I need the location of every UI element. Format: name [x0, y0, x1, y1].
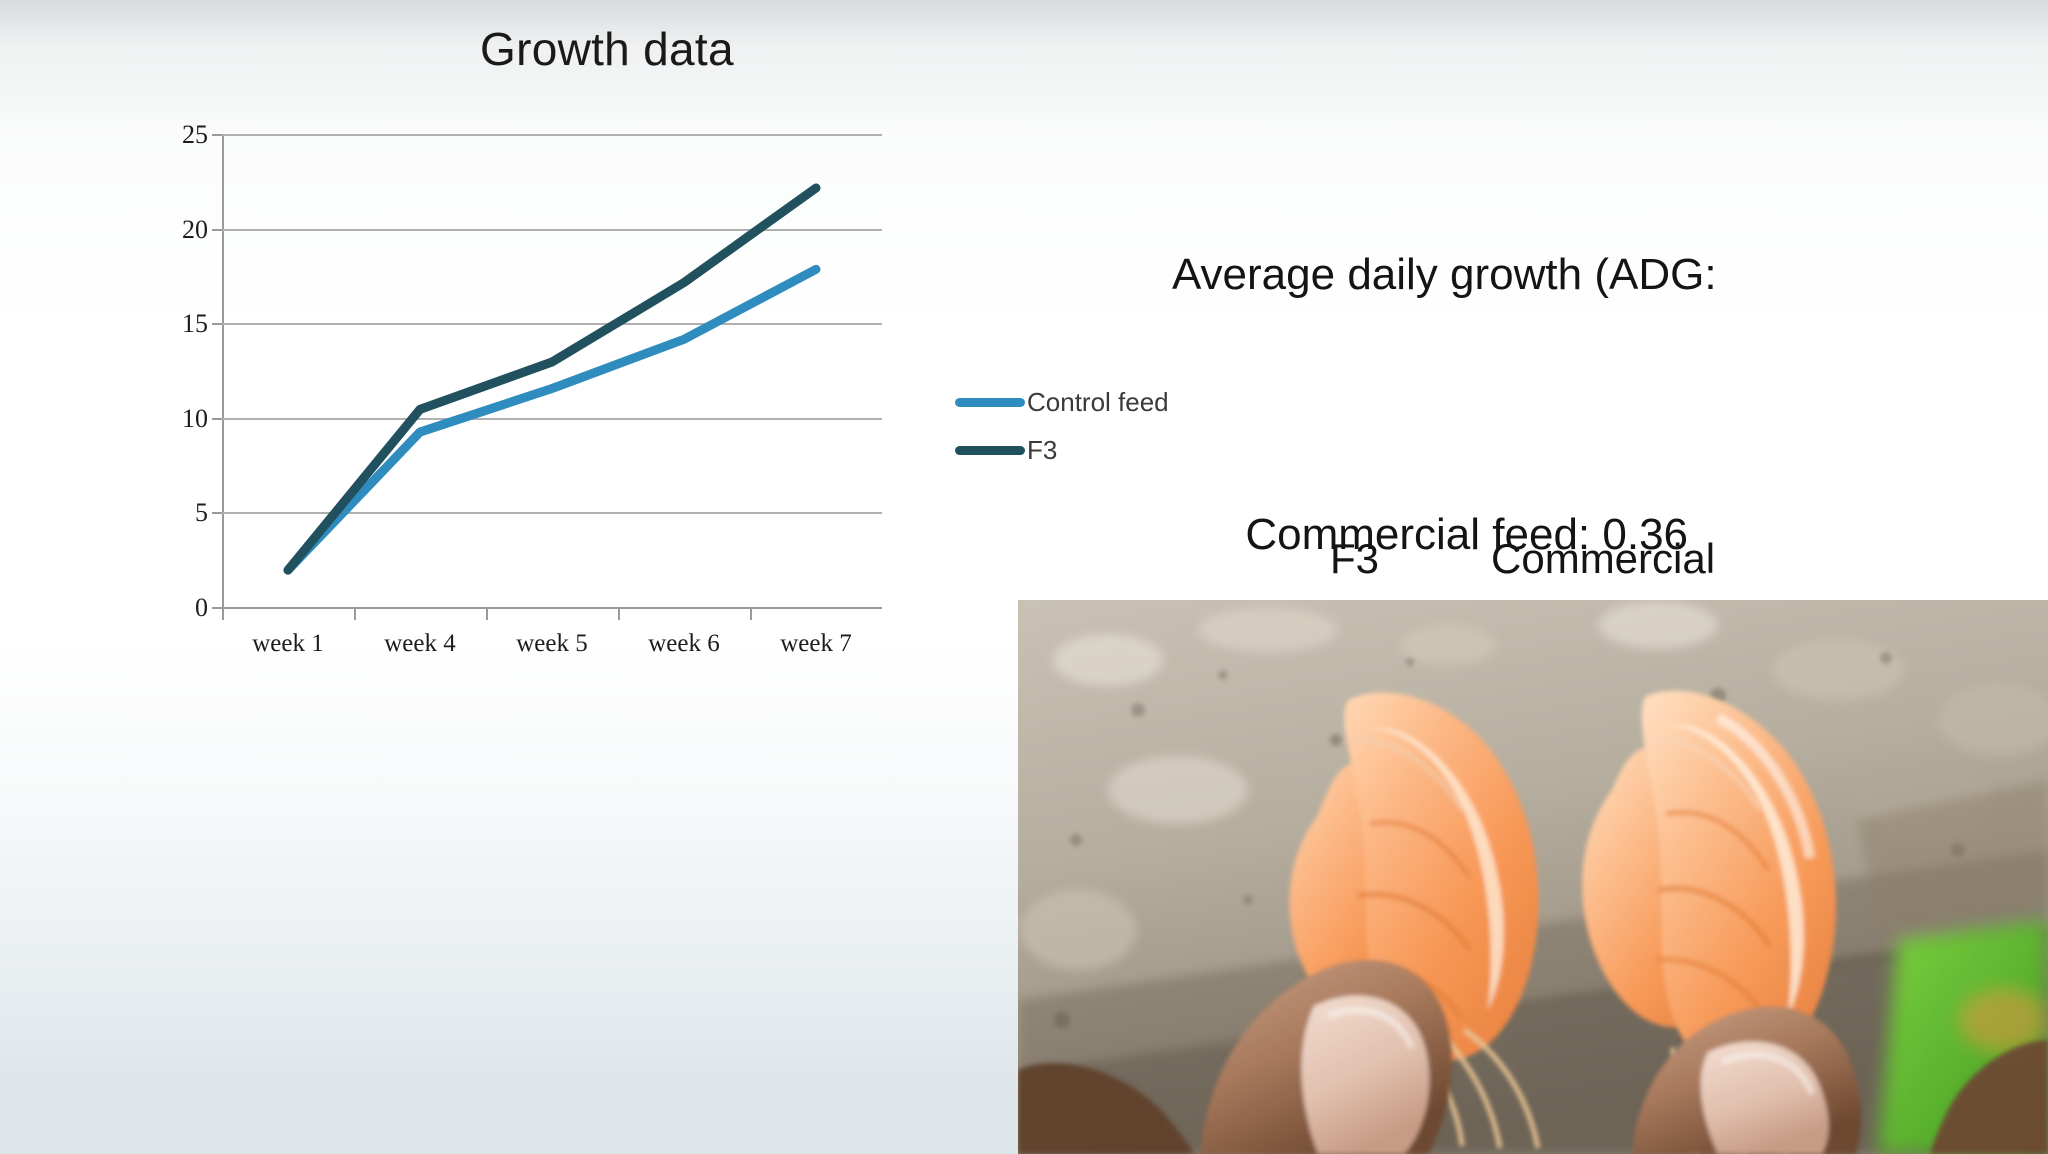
legend-item-control-feed: Control feed: [955, 378, 1169, 426]
slide-canvas: Growth data 0510152025 week 1week 4week …: [0, 0, 2048, 1154]
photo-caption-commercial: Commercial: [1491, 535, 1715, 582]
x-axis-tickmark-4: [750, 608, 752, 620]
y-axis-tickmark-10: [212, 418, 222, 420]
x-axis-label-week-4: week 4: [384, 630, 456, 658]
x-axis-label-week-5: week 5: [516, 630, 588, 658]
x-axis-label-week-6: week 6: [648, 630, 720, 658]
y-axis-tickmark-0: [212, 607, 222, 609]
legend-label-f3: F3: [1027, 435, 1057, 466]
y-axis-tickmark-15: [212, 323, 222, 325]
y-axis-label-5: 5: [195, 498, 208, 528]
growth-data-chart: 0510152025 week 1week 4week 5week 6week …: [170, 100, 910, 730]
legend-label-control-feed: Control feed: [1027, 387, 1169, 418]
series-line-control-feed: [288, 269, 816, 570]
y-axis-label-20: 20: [182, 215, 208, 245]
chart-plot-area: 0510152025 week 1week 4week 5week 6week …: [222, 135, 882, 608]
x-axis-label-week-1: week 1: [252, 630, 324, 658]
x-axis-tickmark-0: [222, 608, 224, 620]
y-axis-tickmark-5: [212, 512, 222, 514]
y-axis-label-10: 10: [182, 404, 208, 434]
photo-captions: F3Commercial: [1330, 535, 1715, 583]
legend-swatch-control-feed: [955, 398, 1025, 407]
y-axis-tickmark-20: [212, 229, 222, 231]
y-axis-label-0: 0: [195, 593, 208, 623]
chart-title: Growth data: [480, 22, 734, 76]
adg-heading: Average daily growth (ADG:: [1172, 242, 1717, 307]
adg-row-commercial: Commercial feed: 0.36: [1172, 437, 1717, 502]
y-axis-tickmark-25: [212, 134, 222, 136]
chart-legend: Control feedF3: [955, 378, 1169, 474]
chart-series: [222, 135, 882, 608]
y-axis-label-25: 25: [182, 120, 208, 150]
shrimp-comparison-photo: [1018, 600, 2048, 1154]
series-line-f3: [288, 188, 816, 570]
x-axis-tickmark-3: [618, 608, 620, 620]
x-axis-tickmark-1: [354, 608, 356, 620]
x-axis-label-week-7: week 7: [780, 630, 852, 658]
y-axis-label-15: 15: [182, 309, 208, 339]
legend-swatch-f3: [955, 446, 1025, 455]
x-axis-tickmark-2: [486, 608, 488, 620]
shrimp-photo-graphic: [1018, 600, 2048, 1154]
photo-caption-f3: F3: [1330, 535, 1379, 582]
legend-item-f3: F3: [955, 426, 1169, 474]
